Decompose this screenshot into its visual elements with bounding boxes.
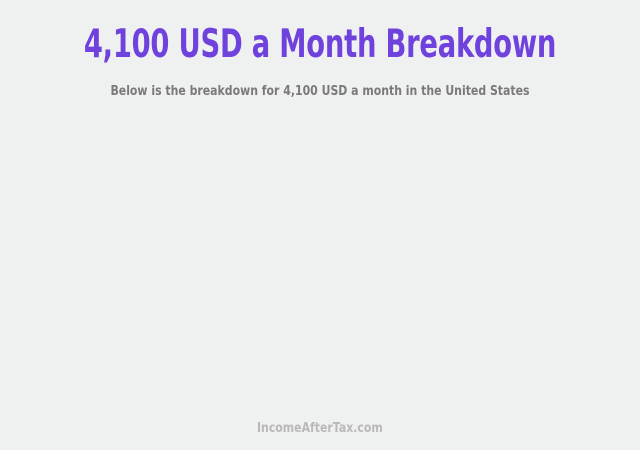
footer-brand-label: IncomeAfterTax.com: [257, 420, 383, 438]
page-title: 4,100 USD a Month Breakdown: [70, 22, 569, 68]
site-footer: IncomeAfterTax.com: [0, 419, 640, 439]
page-subtitle: Below is the breakdown for 4,100 USD a m…: [51, 84, 589, 100]
chart-region: [0, 118, 640, 410]
chart-canvas: [0, 118, 640, 410]
page-root: 4,100 USD a Month Breakdown Below is the…: [0, 0, 640, 450]
